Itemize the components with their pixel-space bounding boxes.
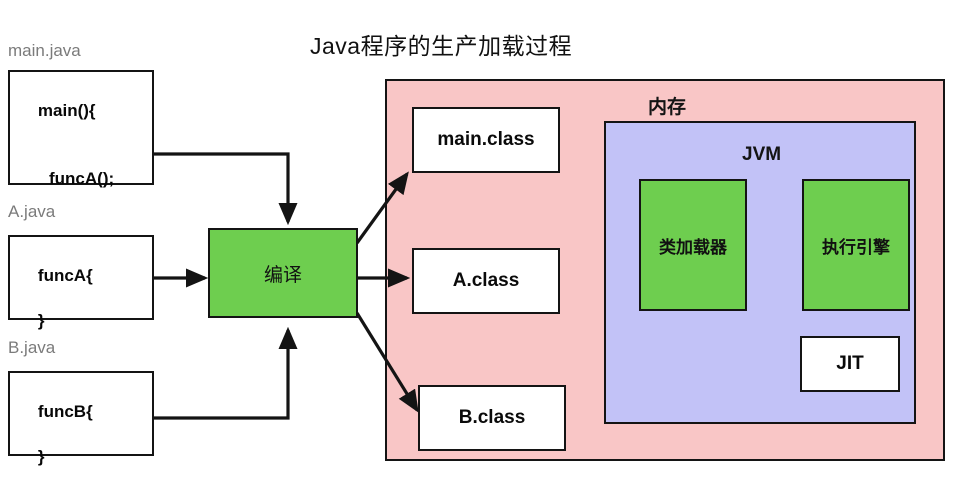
source-box-b-java: funcB{ } (8, 371, 154, 456)
jvm-region-label: JVM (742, 144, 781, 166)
class-box-label: B.class (459, 407, 526, 429)
memory-region-label: 内存 (648, 92, 686, 119)
class-box-b: B.class (418, 385, 566, 451)
jvm-component-label: 类加载器 (659, 233, 727, 258)
arrow-mainjava-to-compile (153, 154, 288, 222)
code-line: main(){ (38, 101, 96, 120)
class-box-label: A.class (453, 270, 520, 292)
class-box-main: main.class (412, 107, 560, 173)
source-box-a-java: funcA{ } (8, 235, 154, 320)
page-title: Java程序的生产加载过程 (310, 27, 640, 61)
jvm-component-label: 执行引擎 (822, 233, 890, 258)
code-line: funcB{ (38, 402, 93, 421)
file-caption-a-java: A.java (8, 202, 55, 222)
arrow-bjava-to-compile (153, 330, 288, 418)
jvm-component-class-loader: 类加载器 (639, 179, 747, 311)
jvm-component-label: JIT (836, 353, 863, 375)
class-box-label: main.class (437, 129, 534, 151)
jvm-component-execution-engine: 执行引擎 (802, 179, 910, 311)
diagram-canvas: Java程序的生产加载过程 内存 JVM main.java m (0, 0, 954, 477)
source-box-main-java: main(){ funcA(); funcB(); } (8, 70, 154, 185)
compile-box: 编译 (208, 228, 358, 318)
code-line: funcA{ (38, 266, 93, 285)
code-line: funcA(); (19, 168, 143, 190)
file-caption-main-java: main.java (8, 41, 81, 61)
file-caption-b-java: B.java (8, 338, 55, 358)
compile-box-label: 编译 (264, 260, 302, 287)
jvm-component-jit: JIT (800, 336, 900, 392)
class-box-a: A.class (412, 248, 560, 314)
code-line: } (38, 311, 45, 330)
code-line: } (38, 447, 45, 466)
